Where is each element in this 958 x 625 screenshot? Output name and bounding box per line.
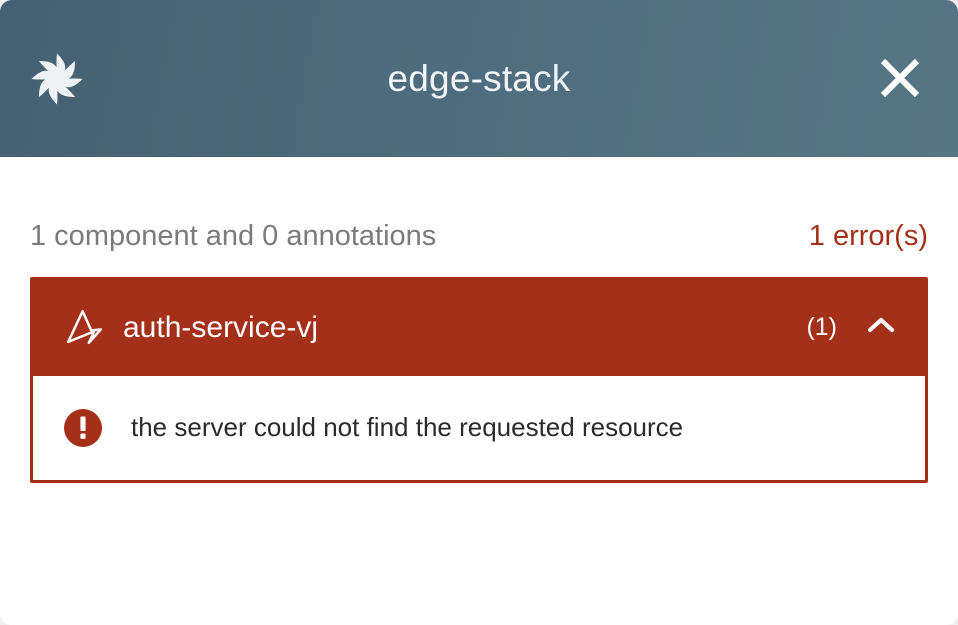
- error-message-text: the server could not find the requested …: [131, 412, 683, 443]
- close-icon: [877, 55, 923, 101]
- close-button[interactable]: [872, 50, 928, 106]
- dialog-header: edge-stack: [0, 0, 958, 157]
- dialog-body: 1 component and 0 annotations 1 error(s)…: [0, 157, 958, 625]
- emissary-lambda-icon: [61, 304, 109, 352]
- error-detail-row: the server could not find the requested …: [61, 406, 899, 450]
- component-card: auth-service-vj (1): [30, 277, 928, 483]
- ambassador-pinwheel-logo-icon: [28, 50, 86, 108]
- edge-stack-dialog: edge-stack 1 component and 0 annotations…: [0, 0, 958, 625]
- component-name: auth-service-vj: [123, 313, 806, 343]
- component-header-auth-service-vj[interactable]: auth-service-vj (1): [33, 280, 925, 376]
- component-details: the server could not find the requested …: [33, 376, 925, 480]
- page-title: edge-stack: [0, 60, 958, 97]
- error-count-label: 1 error(s): [809, 221, 928, 253]
- component-error-count-badge: (1): [806, 315, 837, 340]
- component-summary-text: 1 component and 0 annotations: [30, 221, 436, 253]
- alert-circle-icon: [61, 406, 105, 450]
- chevron-up-icon: [864, 309, 898, 346]
- component-collapse-toggle[interactable]: [863, 310, 899, 346]
- summary-row: 1 component and 0 annotations 1 error(s): [30, 157, 928, 253]
